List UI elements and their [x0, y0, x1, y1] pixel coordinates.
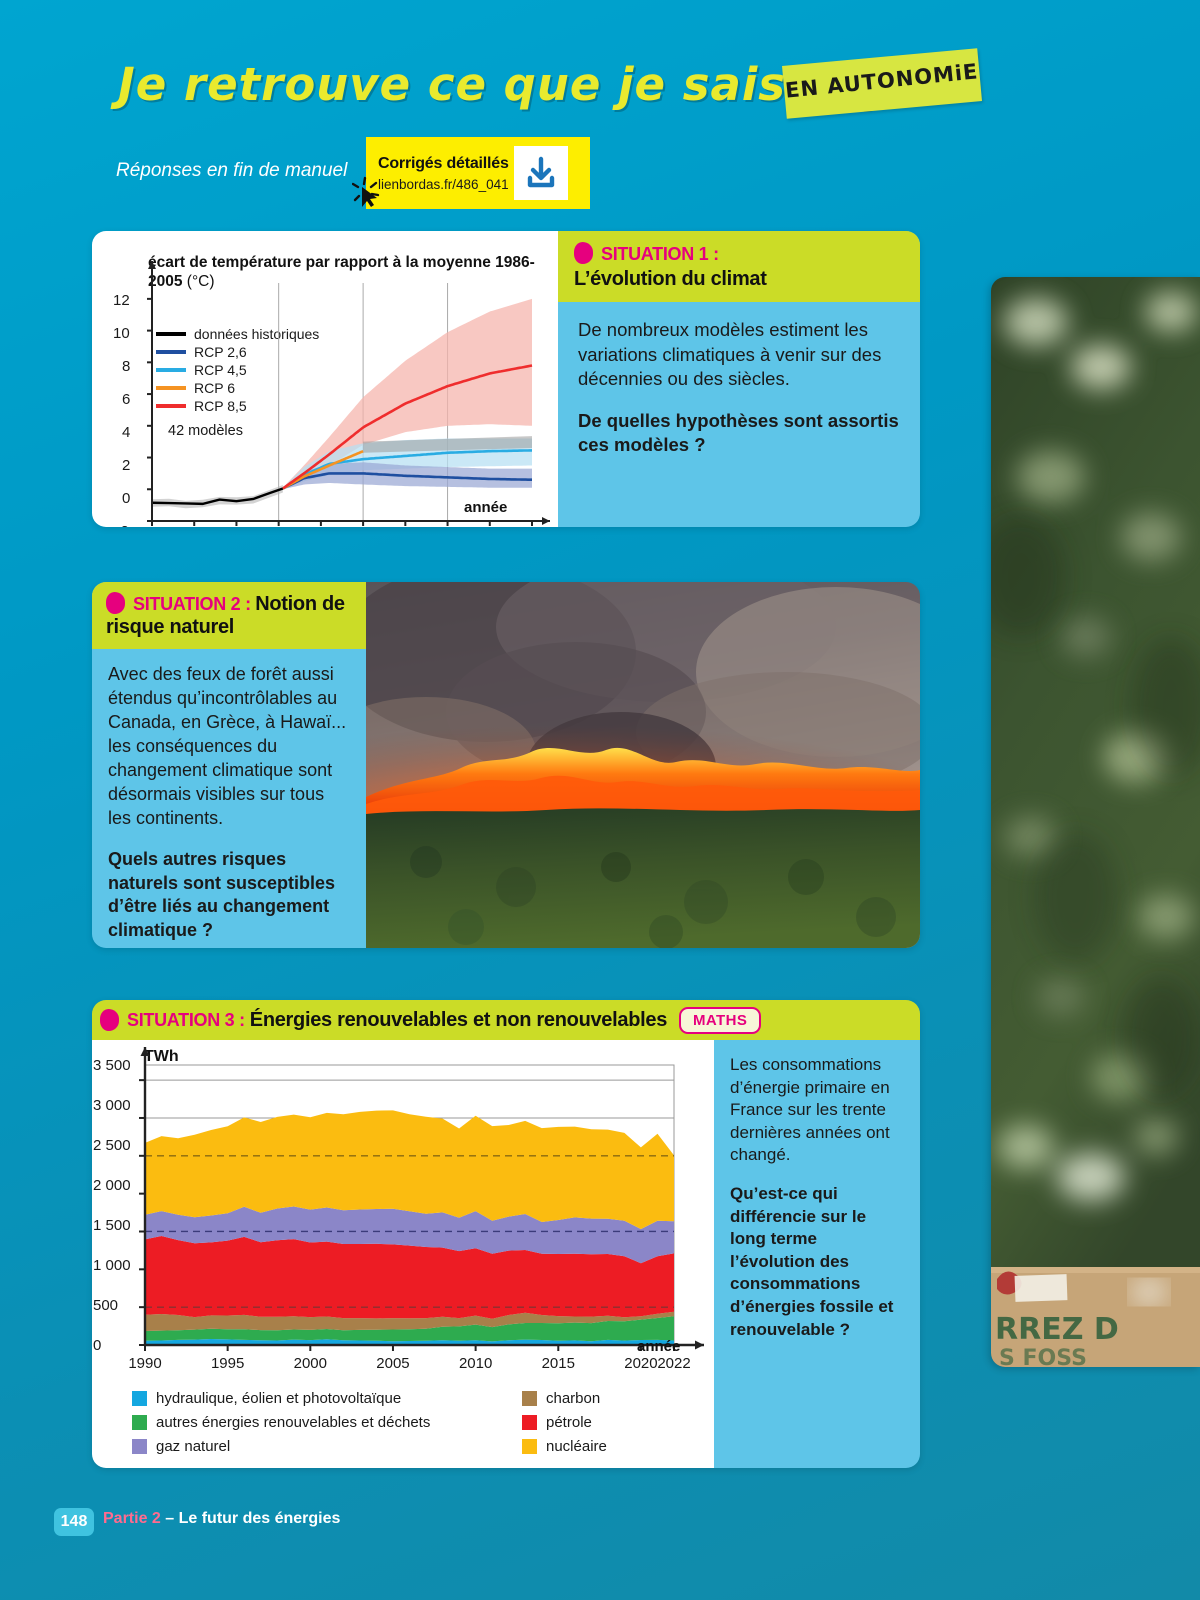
situation-3-body: Les consommations d’énergie primaire en … [714, 1040, 920, 1341]
legend-label-nucleaire: nucléaire [546, 1438, 607, 1455]
wildfire-photo [366, 582, 920, 948]
situation-3-card: SITUATION 3 : Énergies renouvelables et … [92, 1000, 920, 1468]
chart2-legend-item-0: hydraulique, éolien et photovoltaïque [132, 1388, 522, 1409]
situation-2-card: SITUATION 2 : Notion de risque naturel A… [92, 582, 920, 948]
wildfire-photo-illustration [366, 582, 920, 948]
chart2-legend-item-5: nucléaire [522, 1436, 722, 1457]
legend-swatch-charbon [522, 1391, 537, 1406]
chart2-xtick-2022: 2022 [652, 1355, 696, 1372]
download-icon [522, 154, 560, 192]
cursor-click-icon [352, 176, 386, 210]
download-button[interactable] [514, 146, 568, 200]
bullet-icon [106, 592, 125, 614]
protest-photo-illustration: RREZ D S FOSS [991, 277, 1200, 1367]
maths-badge: MATHS [679, 1007, 761, 1034]
chart2-legend-col-left: hydraulique, éolien et photovoltaïque au… [132, 1388, 522, 1460]
situation-1-card: écart de température par rapport à la mo… [92, 231, 920, 527]
legend-swatch-autres-renouvelables [132, 1415, 147, 1430]
legend-swatch-gaz-naturel [132, 1439, 147, 1454]
legend-label-autres-renouvelables: autres énergies renouvelables et déchets [156, 1414, 430, 1431]
energy-chart-panel: TWh 0 500 1 000 1 500 2 000 2 500 3 000 … [92, 1040, 714, 1468]
reponses-note: Réponses en fin de manuel [116, 160, 347, 182]
footer-part-number: Partie 2 [103, 1510, 161, 1527]
footer-part-label: Partie 2 – Le futur des énergies [103, 1510, 340, 1528]
corriges-title: Corrigés détaillés [378, 155, 512, 173]
situation-2-body: Avec des feux de forêt aussi étendus qu’… [92, 649, 366, 943]
situation-1-title: L’évolution du climat [574, 268, 904, 291]
legend-swatch-hydraulique [132, 1391, 147, 1406]
legend-label-hydraulique: hydraulique, éolien et photovoltaïque [156, 1390, 401, 1407]
situation-1-question: De quelles hypothèses sont assortis ces … [578, 409, 900, 458]
legend-swatch-nucleaire [522, 1439, 537, 1454]
situation-2-paragraph: Avec des feux de forêt aussi étendus qu’… [108, 663, 350, 831]
chart2-xtick-2000: 2000 [288, 1355, 332, 1372]
corriges-text-group: Corrigés détaillés lienbordas.fr/486_041 [366, 155, 512, 192]
chart1-xaxis-name: année [464, 499, 507, 516]
situation-1-text-panel: SITUATION 1 : L’évolution du climat De n… [558, 231, 920, 527]
corriges-link[interactable]: lienbordas.fr/486_041 [378, 177, 512, 192]
situation-3-label: SITUATION 3 : [127, 1010, 245, 1031]
chart2-legend-item-2: gaz naturel [132, 1436, 522, 1457]
svg-text:S FOSS: S FOSS [999, 1346, 1087, 1367]
chart1-plot [92, 231, 558, 527]
situation-2-question: Quels autres risques naturels sont susce… [108, 848, 350, 944]
situation-1-header: SITUATION 1 : L’évolution du climat [558, 231, 920, 302]
legend-label-charbon: charbon [546, 1390, 600, 1407]
chart2-xaxis-name: année [637, 1338, 680, 1355]
chart2-legend-item-1: autres énergies renouvelables et déchets [132, 1412, 522, 1433]
svg-text:RREZ D: RREZ D [995, 1312, 1119, 1347]
situation-1-body: De nombreux modèles estiment les variati… [558, 302, 920, 468]
situation-1-paragraph: De nombreux modèles estiment les variati… [578, 318, 900, 392]
temperature-chart-panel: écart de température par rapport à la mo… [92, 231, 558, 527]
chart2-xtick-1990: 1990 [123, 1355, 167, 1372]
situation-2-label: SITUATION 2 : [133, 594, 251, 614]
corriges-download-box[interactable]: Corrigés détaillés lienbordas.fr/486_041 [366, 137, 590, 209]
bullet-icon [100, 1009, 119, 1031]
situation-2-text-panel: SITUATION 2 : Notion de risque naturel A… [92, 582, 366, 948]
situation-1-label: SITUATION 1 : [601, 244, 719, 264]
bullet-icon [574, 242, 593, 264]
situation-3-header: SITUATION 3 : Énergies renouvelables et … [92, 1000, 920, 1040]
legend-swatch-petrole [522, 1415, 537, 1430]
situation-3-paragraph: Les consommations d’énergie primaire en … [730, 1054, 906, 1167]
en-autonomie-label: EN AUTONOMiE [783, 59, 980, 103]
chart2-plot [92, 1040, 714, 1380]
legend-label-petrole: pétrole [546, 1414, 592, 1431]
chart2-legend-item-3: charbon [522, 1388, 722, 1409]
chart2-legend-item-4: pétrole [522, 1412, 722, 1433]
chart2-legend-col-right: charbon pétrole nucléaire [522, 1388, 722, 1460]
chart2-xtick-2010: 2010 [454, 1355, 498, 1372]
situation-2-header: SITUATION 2 : Notion de risque naturel [92, 582, 366, 649]
page-number-badge: 148 [54, 1508, 94, 1536]
chart2-xtick-1995: 1995 [206, 1355, 250, 1372]
legend-label-gaz-naturel: gaz naturel [156, 1438, 230, 1455]
chart2-xtick-2005: 2005 [371, 1355, 415, 1372]
situation-3-question: Qu’est-ce qui différencie sur le long te… [730, 1183, 906, 1341]
situation-3-text-panel: Les consommations d’énergie primaire en … [714, 1040, 920, 1468]
protest-photo: RREZ D S FOSS [991, 277, 1200, 1367]
situation-3-title: Énergies renouvelables et non renouvelab… [250, 1009, 667, 1032]
chart2-xtick-2015: 2015 [536, 1355, 580, 1372]
footer-part-title: – Le futur des énergies [161, 1510, 341, 1527]
